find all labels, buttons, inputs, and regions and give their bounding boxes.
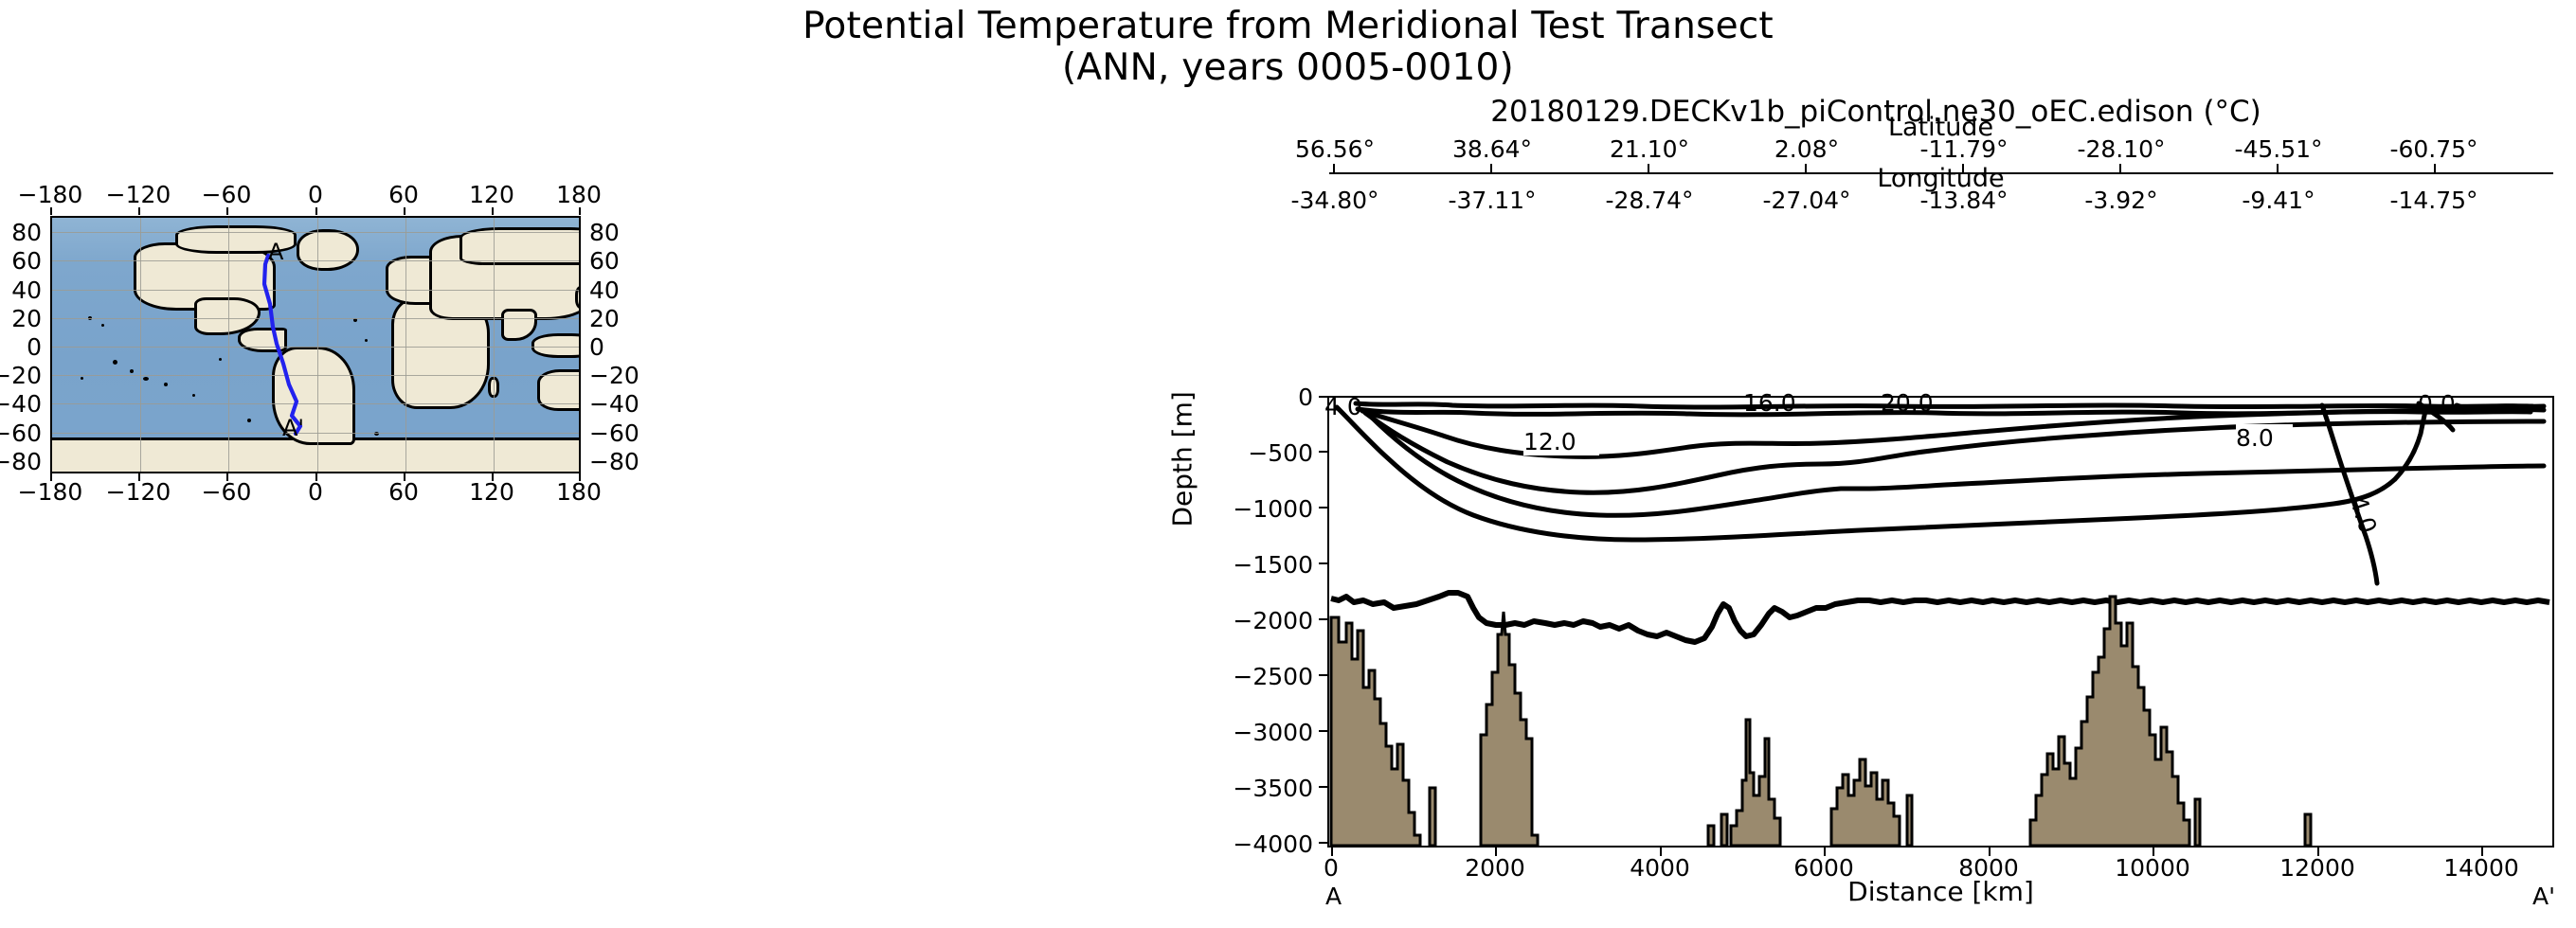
map-ytick-label-right: 60	[589, 247, 658, 275]
map-ytick-label-left: 40	[0, 277, 42, 304]
latitude-tick-label: -11.79°	[1888, 135, 2040, 163]
latitude-axis-tick	[1490, 164, 1492, 172]
depth-tick-label: −3500	[1203, 775, 1313, 802]
map-xtick	[492, 207, 494, 215]
latitude-tick-label: 38.64°	[1416, 135, 1568, 163]
latitude-axis-tick	[2434, 164, 2436, 172]
cross-section-panel	[1327, 396, 2554, 848]
depth-tick-label: −500	[1203, 439, 1313, 467]
map-panel	[50, 216, 581, 473]
map-ytick-label-right: 20	[589, 305, 658, 332]
map-xtick	[226, 207, 228, 215]
distance-tick-label: 4000	[1603, 854, 1717, 882]
map-xtick	[404, 207, 405, 215]
contour-label: 0.0	[2418, 390, 2475, 418]
map-plot-area	[50, 216, 581, 473]
map-xtick-label-top: 180	[522, 181, 636, 208]
map-transect-end-label: A'	[282, 415, 304, 441]
bathymetry-fill	[1331, 597, 2311, 846]
figure-title: Potential Temperature from Meridional Te…	[0, 6, 2576, 89]
map-ytick-label-right: −80	[589, 448, 658, 475]
latitude-tick-label: -60.75°	[2358, 135, 2510, 163]
depth-tick-label: −3000	[1203, 719, 1313, 746]
map-ytick-label-left: 20	[0, 305, 42, 332]
latitude-axis-tick	[1648, 164, 1649, 172]
map-ytick-label-right: −20	[589, 362, 658, 389]
distance-tick-label: 8000	[1932, 854, 2045, 882]
contour-label: 16.0	[1743, 389, 1819, 417]
map-ytick-label-right: 80	[589, 219, 658, 246]
depth-tick	[1319, 842, 1327, 844]
figure-canvas: Potential Temperature from Meridional Te…	[0, 0, 2576, 928]
longitude-tick-label: -34.80°	[1259, 187, 1411, 214]
latitude-axis-tick	[2277, 164, 2279, 172]
figure-title-line1: Potential Temperature from Meridional Te…	[802, 5, 1774, 47]
longitude-tick-label: -37.11°	[1416, 187, 1568, 214]
contour-label: 20.0	[1881, 389, 1956, 417]
latitude-tick-label: 56.56°	[1259, 135, 1411, 163]
distance-tick-label: 0	[1274, 854, 1388, 882]
map-ytick-label-right: −60	[589, 419, 658, 447]
latitude-axis-tick	[1962, 164, 1964, 172]
latitude-tick-label: -28.10°	[2045, 135, 2197, 163]
depth-tick-label: −2000	[1203, 607, 1313, 634]
figure-title-line2: (ANN, years 0005-0010)	[0, 47, 2576, 89]
map-ytick-label-left: −40	[0, 390, 42, 418]
distance-tick-label: 6000	[1767, 854, 1881, 882]
map-xtick	[50, 207, 52, 215]
latitude-tick-label: 2.08°	[1731, 135, 1882, 163]
longitude-tick-label: -13.84°	[1888, 187, 2040, 214]
contour-label: 4.0	[1324, 393, 1381, 420]
depth-tick	[1319, 562, 1327, 564]
longitude-tick-label: -28.74°	[1574, 187, 1725, 214]
map-ytick-label-right: 0	[589, 333, 658, 361]
depth-tick	[1319, 451, 1327, 453]
latitude-tick-label: -45.51°	[2203, 135, 2354, 163]
map-transect-start-label: A	[268, 239, 283, 265]
map-xtick	[579, 207, 581, 215]
latitude-axis-tick	[1333, 164, 1335, 172]
distance-tick-label: 2000	[1438, 854, 1552, 882]
cross-section-end-label: A'	[2532, 883, 2555, 910]
depth-tick	[1319, 786, 1327, 788]
distance-tick-label: 10000	[2096, 854, 2209, 882]
cross-section-start-label: A	[1325, 883, 1342, 910]
map-xtick	[315, 207, 317, 215]
depth-tick	[1319, 674, 1327, 676]
latitude-axis-spine	[1329, 172, 2553, 174]
cross-section-contours	[1329, 398, 2552, 846]
map-ytick-label-left: 0	[0, 333, 42, 361]
contour-label: 8.0	[2236, 424, 2293, 452]
map-ytick-label-left: 80	[0, 219, 42, 246]
depth-tick	[1319, 507, 1327, 509]
latitude-axis-tick	[1805, 164, 1807, 172]
map-ytick-label-left: −60	[0, 419, 42, 447]
map-xtick	[138, 207, 140, 215]
map-ytick-label-left: −80	[0, 448, 42, 475]
depth-tick-label: −2500	[1203, 663, 1313, 690]
cross-section-plot-area	[1327, 396, 2554, 848]
depth-axis-label: Depth [m]	[1167, 490, 1198, 527]
transect-line	[52, 218, 581, 473]
distance-tick-label: 14000	[2424, 854, 2538, 882]
map-ytick-label-left: −20	[0, 362, 42, 389]
longitude-tick-label: -27.04°	[1731, 187, 1882, 214]
depth-tick-label: 0	[1203, 384, 1313, 411]
latitude-axis-tick	[2119, 164, 2121, 172]
map-ytick-label-left: 60	[0, 247, 42, 275]
depth-tick-label: −1000	[1203, 495, 1313, 523]
map-xtick-label-bottom: 180	[522, 478, 636, 506]
depth-tick-label: −1500	[1203, 551, 1313, 579]
map-ytick-label-right: −40	[589, 390, 658, 418]
seafloor-line	[1331, 593, 2549, 642]
longitude-tick-label: -9.41°	[2203, 187, 2354, 214]
longitude-tick-label: -3.92°	[2045, 187, 2197, 214]
distance-tick-label: 12000	[2261, 854, 2374, 882]
depth-tick	[1319, 618, 1327, 620]
longitude-tick-label: -14.75°	[2358, 187, 2510, 214]
latitude-tick-label: 21.10°	[1574, 135, 1725, 163]
map-ytick-label-right: 40	[589, 277, 658, 304]
depth-tick	[1319, 730, 1327, 732]
contour-label: 12.0	[1523, 428, 1599, 455]
